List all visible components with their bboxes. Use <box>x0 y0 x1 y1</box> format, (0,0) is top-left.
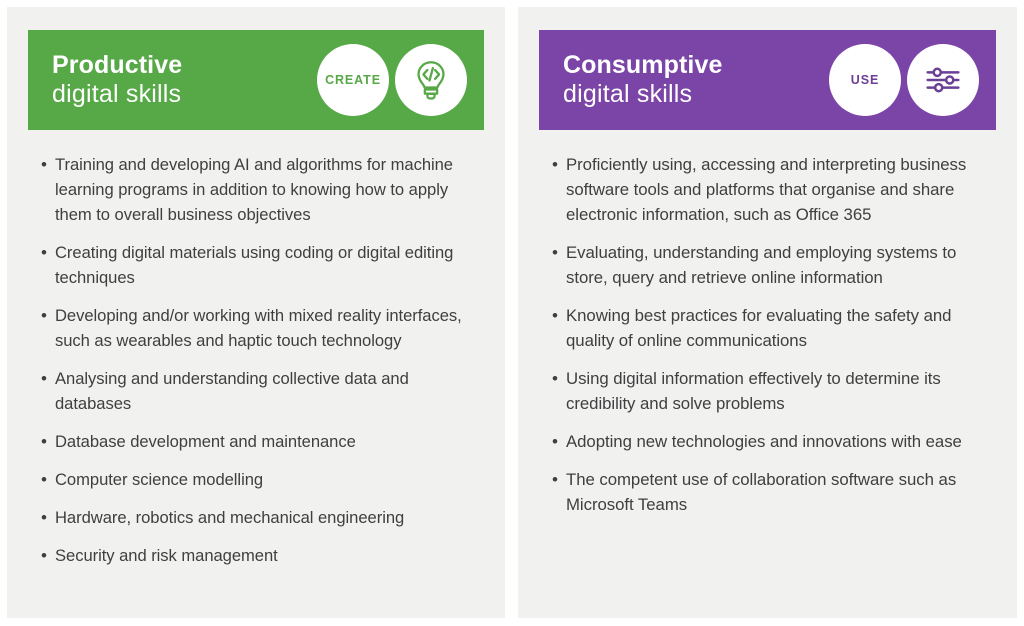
bullet-icon: • <box>552 152 566 177</box>
list-item: • The competent use of collaboration sof… <box>552 467 989 517</box>
bullet-icon: • <box>552 467 566 492</box>
list-item: • Creating digital materials using codin… <box>41 240 477 290</box>
list-item-text: Developing and/or working with mixed rea… <box>55 303 477 353</box>
bullet-icon: • <box>41 303 55 328</box>
bullet-icon: • <box>41 543 55 568</box>
create-badge-label: CREATE <box>325 73 381 87</box>
use-badge[interactable]: USE <box>829 44 901 116</box>
create-badge[interactable]: CREATE <box>317 44 389 116</box>
bullet-icon: • <box>41 240 55 265</box>
bullet-icon: • <box>552 240 566 265</box>
list-item: • Knowing best practices for evaluating … <box>552 303 989 353</box>
list-item: • Analysing and understanding collective… <box>41 366 477 416</box>
skills-list-consumptive: • Proficiently using, accessing and inte… <box>518 130 1017 517</box>
list-item-text: Analysing and understanding collective d… <box>55 366 477 416</box>
panel-icon-group: USE <box>829 44 996 116</box>
list-item: • Using digital information effectively … <box>552 366 989 416</box>
list-item-text: Evaluating, understanding and employing … <box>566 240 989 290</box>
list-item-text: Hardware, robotics and mechanical engine… <box>55 505 404 530</box>
bullet-icon: • <box>552 303 566 328</box>
bullet-icon: • <box>552 366 566 391</box>
panel-header-productive: Productive digital skills CREATE <box>28 30 484 130</box>
list-item-text: Database development and maintenance <box>55 429 356 454</box>
list-item-text: Knowing best practices for evaluating th… <box>566 303 989 353</box>
panel-header-consumptive: Consumptive digital skills USE <box>539 30 996 130</box>
bullet-icon: • <box>41 366 55 391</box>
list-item: • Training and developing AI and algorit… <box>41 152 477 227</box>
bullet-icon: • <box>41 467 55 492</box>
infographic-stage: Productive digital skills CREATE <box>0 0 1024 626</box>
bullet-icon: • <box>41 505 55 530</box>
list-item: • Adopting new technologies and innovati… <box>552 429 989 454</box>
sliders-icon <box>920 57 966 103</box>
list-item: • Hardware, robotics and mechanical engi… <box>41 505 477 530</box>
panel-consumptive: Consumptive digital skills USE <box>518 7 1017 618</box>
panel-title-block: Consumptive digital skills <box>539 53 829 107</box>
bullet-icon: • <box>552 429 566 454</box>
list-item-text: Proficiently using, accessing and interp… <box>566 152 989 227</box>
list-item: • Computer science modelling <box>41 467 477 492</box>
skills-list-productive: • Training and developing AI and algorit… <box>7 130 505 568</box>
list-item: • Proficiently using, accessing and inte… <box>552 152 989 227</box>
panel-title-sub: digital skills <box>52 82 317 107</box>
sliders-badge[interactable] <box>907 44 979 116</box>
list-item: • Evaluating, understanding and employin… <box>552 240 989 290</box>
lightbulb-code-icon <box>408 57 454 103</box>
panel-productive: Productive digital skills CREATE <box>7 7 505 618</box>
panel-title-main: Consumptive <box>563 53 829 78</box>
bullet-icon: • <box>41 429 55 454</box>
list-item-text: Adopting new technologies and innovation… <box>566 429 962 454</box>
list-item: • Developing and/or working with mixed r… <box>41 303 477 353</box>
panel-icon-group: CREATE <box>317 44 484 116</box>
list-item-text: Computer science modelling <box>55 467 263 492</box>
use-badge-label: USE <box>851 73 879 87</box>
panel-title-main: Productive <box>52 53 317 78</box>
panel-title-sub: digital skills <box>563 82 829 107</box>
list-item: • Security and risk management <box>41 543 477 568</box>
list-item-text: Security and risk management <box>55 543 278 568</box>
panel-title-block: Productive digital skills <box>28 53 317 107</box>
lightbulb-code-badge[interactable] <box>395 44 467 116</box>
list-item-text: Using digital information effectively to… <box>566 366 989 416</box>
bullet-icon: • <box>41 152 55 177</box>
list-item-text: Training and developing AI and algorithm… <box>55 152 477 227</box>
list-item-text: Creating digital materials using coding … <box>55 240 477 290</box>
list-item-text: The competent use of collaboration softw… <box>566 467 989 517</box>
list-item: • Database development and maintenance <box>41 429 477 454</box>
